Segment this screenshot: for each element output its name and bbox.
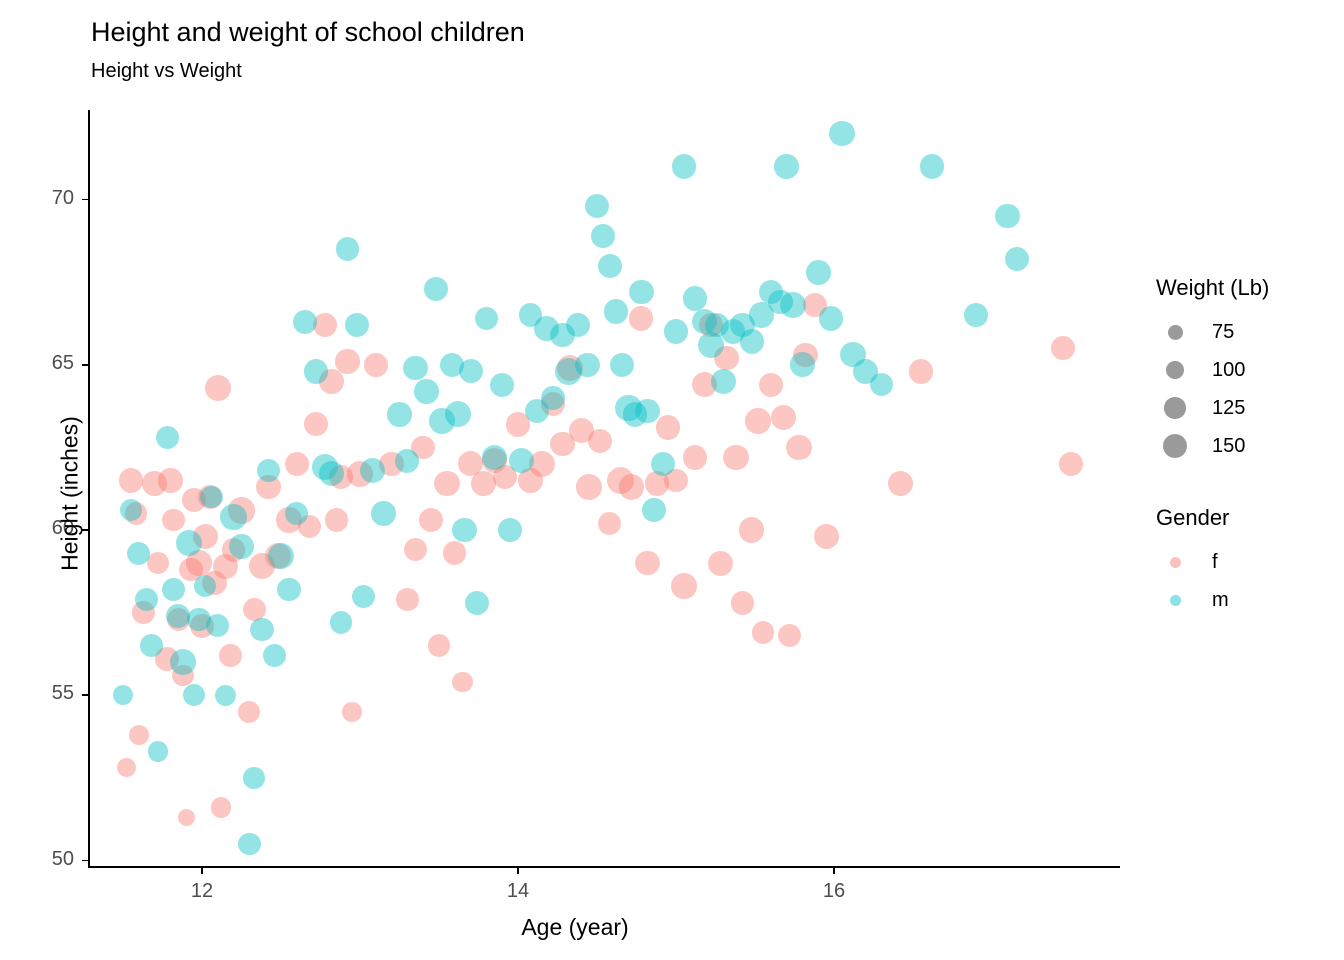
legend-size: Weight (Lb) 75100125150	[1152, 275, 1342, 465]
data-point-f	[708, 551, 733, 576]
data-point-m	[352, 585, 375, 608]
y-axis-line	[88, 110, 90, 867]
data-point-m	[541, 386, 565, 410]
data-point-m	[610, 353, 634, 377]
data-point-f	[471, 471, 496, 496]
data-point-f	[404, 538, 427, 561]
data-point-f	[683, 445, 708, 470]
data-point-m	[591, 224, 615, 248]
data-point-m	[263, 644, 286, 667]
legend-area: Weight (Lb) 75100125150 Gender fm	[1152, 275, 1342, 619]
legend-size-label: 75	[1212, 321, 1234, 344]
data-point-m	[127, 542, 150, 565]
chart-page: Height and weight of school children Hei…	[0, 0, 1344, 960]
data-point-m	[387, 402, 411, 426]
data-point-f	[731, 591, 755, 615]
x-axis-tick	[833, 868, 835, 874]
x-axis-tick	[201, 868, 203, 874]
data-point-m	[651, 452, 675, 476]
circle-icon	[1164, 397, 1186, 419]
data-point-f	[304, 412, 328, 436]
data-point-m	[806, 260, 831, 285]
data-point-m	[482, 445, 507, 470]
data-point-m	[1005, 247, 1029, 271]
data-point-m	[250, 618, 273, 641]
legend-size-title: Weight (Lb)	[1156, 275, 1342, 301]
x-axis-tick-label: 16	[804, 880, 864, 903]
data-point-m	[200, 486, 222, 508]
data-point-f	[178, 809, 195, 826]
data-point-m	[277, 578, 301, 602]
data-point-m	[774, 154, 799, 179]
legend-size-label: 150	[1212, 435, 1245, 458]
legend-gender-item-m[interactable]: m	[1152, 581, 1342, 619]
data-point-f	[814, 524, 839, 549]
data-point-f	[888, 471, 913, 496]
data-point-f	[211, 797, 232, 818]
circle-icon	[1168, 325, 1183, 340]
data-point-m	[360, 458, 385, 483]
data-point-m	[371, 501, 396, 526]
data-point-f	[656, 415, 681, 440]
data-point-f	[342, 702, 362, 722]
legend-size-item[interactable]: 100	[1152, 351, 1342, 389]
data-point-m	[598, 254, 622, 278]
circle-icon	[1166, 361, 1185, 380]
legend-size-item[interactable]: 125	[1152, 389, 1342, 427]
legend-size-label: 100	[1212, 359, 1245, 382]
data-point-m	[459, 359, 483, 383]
data-point-m	[566, 313, 590, 337]
data-point-m	[243, 767, 264, 788]
legend-size-key-icon	[1152, 434, 1198, 459]
data-point-m	[870, 373, 893, 396]
data-point-m	[215, 685, 236, 706]
data-point-m	[711, 369, 736, 394]
data-point-m	[330, 611, 352, 633]
data-point-m	[780, 292, 806, 318]
data-point-f	[786, 435, 812, 461]
data-point-f	[364, 353, 388, 377]
data-point-f	[671, 573, 697, 599]
data-point-m	[964, 303, 988, 327]
data-point-f	[778, 624, 801, 647]
data-point-f	[335, 349, 359, 373]
data-point-f	[452, 672, 472, 692]
data-point-m	[452, 518, 477, 543]
data-point-m	[162, 578, 185, 601]
data-point-f	[219, 644, 242, 667]
data-point-m	[920, 154, 945, 179]
data-point-f	[1051, 336, 1075, 360]
data-point-m	[140, 634, 163, 657]
data-point-f	[629, 306, 653, 330]
legend-size-key-icon	[1152, 325, 1198, 340]
legend-size-key-icon	[1152, 397, 1198, 419]
data-point-f	[428, 634, 451, 657]
data-point-f	[619, 474, 644, 499]
data-point-m	[829, 121, 855, 147]
data-point-f	[443, 541, 466, 564]
data-point-f	[745, 408, 770, 433]
data-point-f	[576, 474, 602, 500]
data-point-m	[490, 373, 514, 397]
legend-gender-label: m	[1212, 589, 1229, 612]
data-point-f	[723, 445, 748, 470]
data-point-m	[629, 280, 654, 305]
data-point-m	[183, 684, 205, 706]
data-point-m	[604, 299, 629, 324]
data-point-m	[206, 614, 229, 637]
data-point-f	[598, 512, 621, 535]
data-point-f	[759, 373, 783, 397]
circle-icon	[1170, 595, 1181, 606]
data-point-f	[117, 758, 136, 777]
data-point-m	[156, 426, 179, 449]
data-point-f	[635, 551, 660, 576]
data-point-m	[585, 194, 609, 218]
legend-gender-rows: fm	[1152, 543, 1342, 619]
data-point-m	[664, 319, 689, 344]
plot-panel	[90, 110, 1120, 865]
data-point-m	[345, 313, 369, 337]
data-point-m	[238, 833, 261, 856]
data-point-m	[740, 329, 765, 354]
legend-size-rows: 75100125150	[1152, 313, 1342, 465]
data-point-f	[129, 725, 149, 745]
data-point-m	[509, 448, 534, 473]
data-point-f	[158, 468, 182, 492]
data-point-f	[588, 429, 612, 453]
data-point-m	[465, 591, 489, 615]
circle-icon	[1170, 557, 1181, 568]
data-point-f	[119, 468, 144, 493]
x-axis-tick-label: 12	[172, 880, 232, 903]
data-point-f	[1059, 452, 1083, 476]
data-point-f	[771, 405, 796, 430]
x-axis-tick	[517, 868, 519, 874]
data-point-m	[395, 449, 419, 473]
data-point-m	[642, 498, 666, 522]
data-point-m	[790, 352, 815, 377]
data-point-m	[498, 518, 522, 542]
data-point-m	[445, 401, 471, 427]
data-point-f	[313, 313, 337, 337]
data-point-m	[819, 306, 843, 330]
data-point-m	[293, 310, 317, 334]
data-point-m	[268, 543, 294, 569]
page-title: Height and weight of school children	[91, 16, 525, 48]
data-point-m	[336, 237, 360, 261]
data-point-m	[229, 534, 254, 559]
data-point-f	[147, 552, 169, 574]
data-point-f	[325, 508, 348, 531]
legend-gender-title: Gender	[1156, 505, 1342, 531]
data-point-m	[683, 286, 707, 310]
data-point-m	[672, 154, 697, 179]
legend-gender-key-icon	[1152, 557, 1198, 568]
data-point-m	[414, 379, 439, 404]
legend-size-label: 125	[1212, 397, 1245, 420]
data-point-m	[475, 307, 499, 331]
data-point-m	[424, 277, 448, 301]
data-point-f	[162, 509, 185, 532]
legend-size-item[interactable]: 75	[1152, 313, 1342, 351]
x-axis-line	[88, 866, 1120, 868]
circle-icon	[1163, 434, 1188, 459]
page-subtitle: Height vs Weight	[91, 59, 242, 83]
data-point-f	[238, 701, 260, 723]
legend-size-item[interactable]: 150	[1152, 427, 1342, 465]
legend-gender: Gender fm	[1152, 505, 1342, 619]
data-point-m	[113, 685, 133, 705]
data-point-f	[752, 621, 774, 643]
y-axis-title: Height (inches)	[57, 114, 84, 874]
data-point-m	[635, 399, 659, 423]
data-point-m	[220, 504, 246, 530]
legend-gender-item-f[interactable]: f	[1152, 543, 1342, 581]
data-point-f	[419, 508, 443, 532]
data-point-f	[909, 359, 934, 384]
data-point-f	[434, 471, 460, 497]
data-point-m	[135, 588, 158, 611]
x-axis-title: Age (year)	[0, 914, 1150, 941]
legend-gender-label: f	[1212, 551, 1218, 574]
data-point-m	[403, 356, 428, 381]
data-point-f	[396, 588, 418, 610]
data-point-f	[285, 452, 309, 476]
data-point-m	[148, 741, 168, 761]
data-point-f	[739, 517, 764, 542]
data-point-m	[304, 359, 328, 383]
legend-size-key-icon	[1152, 361, 1198, 380]
data-point-m	[575, 353, 599, 377]
data-point-f	[205, 375, 231, 401]
data-point-m	[995, 204, 1020, 229]
legend-gender-key-icon	[1152, 595, 1198, 606]
x-axis-tick-label: 14	[488, 880, 548, 903]
